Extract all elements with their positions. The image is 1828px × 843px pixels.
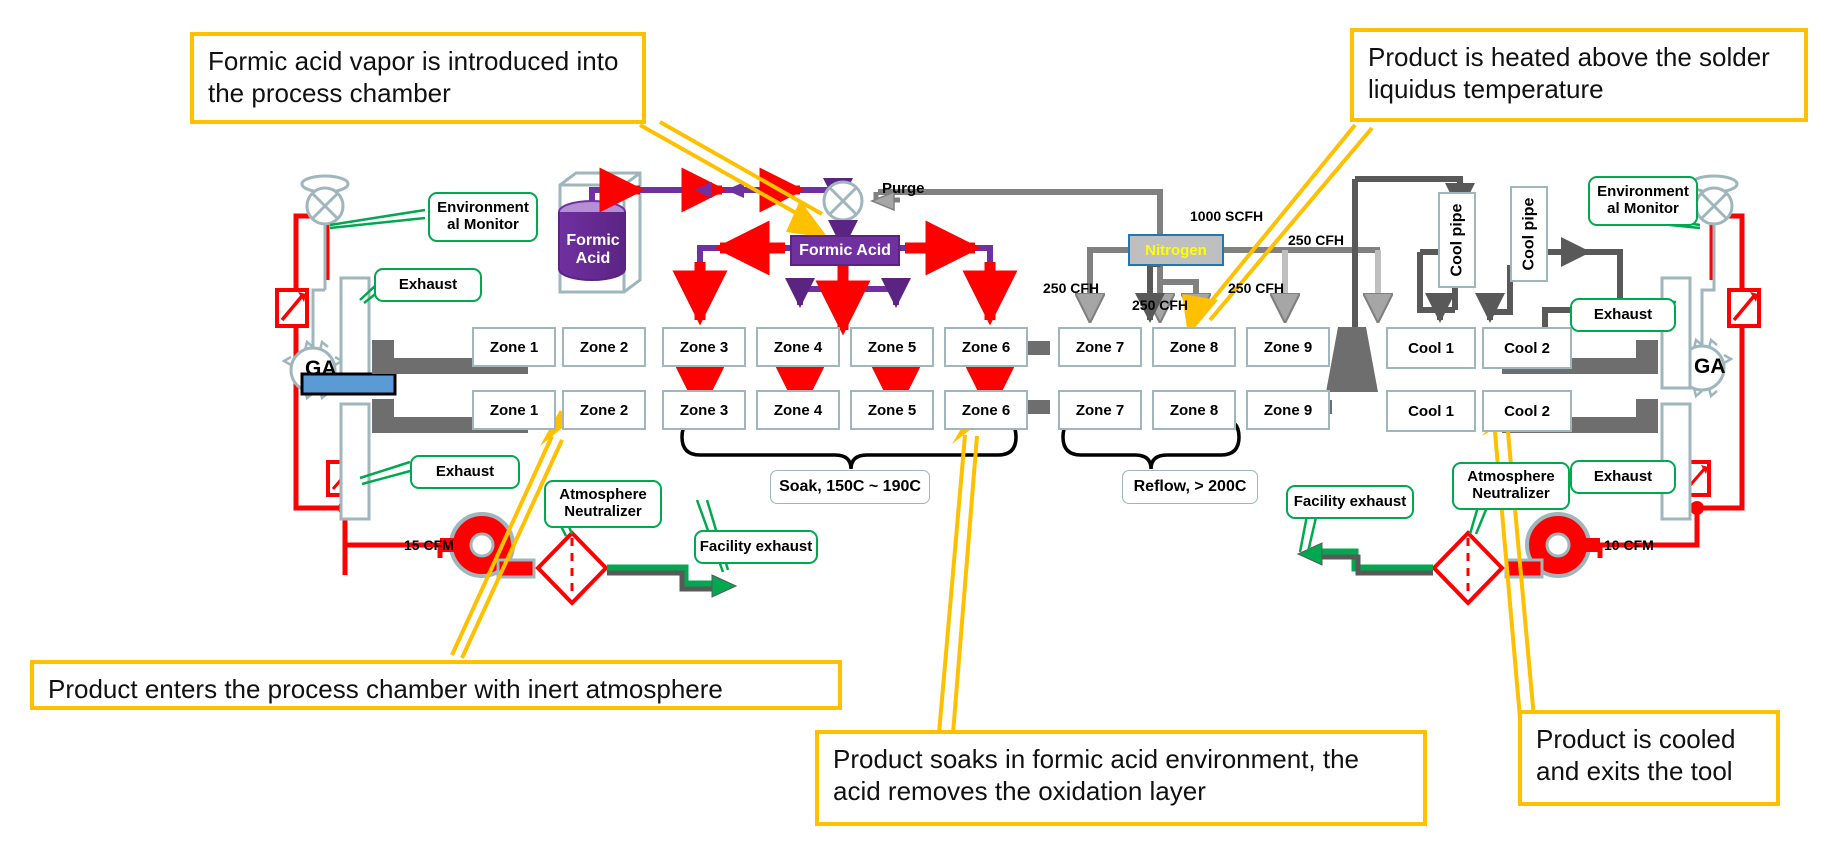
zone-top-5[interactable]: Zone 5 (850, 327, 934, 367)
callout-enters: Product enters the process chamber with … (30, 660, 842, 710)
callout-cooled: Product is cooled and exits the tool (1518, 710, 1780, 806)
zone-bottom-9[interactable]: Zone 9 (1246, 390, 1330, 430)
label-facility-exhaust-left: Facility exhaust (694, 530, 818, 564)
cool-top-1[interactable]: Cool 1 (1386, 327, 1476, 369)
right-facility-exhaust-pipe (1298, 543, 1433, 573)
zone-top-8[interactable]: Zone 8 (1152, 327, 1236, 367)
callout-formic-intro: Formic acid vapor is introduced into the… (190, 32, 646, 124)
tank-label-line2: Acid (560, 250, 626, 268)
transition-trapezoid (1326, 327, 1378, 392)
left-atmosphere-neutralizer (538, 533, 606, 603)
flow-blower-left: 15 CFM (404, 537, 454, 553)
purge-label: Purge (882, 180, 925, 197)
right-atmosphere-neutralizer (1434, 533, 1502, 603)
left-blower (440, 514, 534, 577)
cool-pipe-2: Cool pipe (1510, 186, 1548, 282)
zone-bottom-2[interactable]: Zone 2 (562, 390, 646, 430)
flow-zone7: 250 CFH (1043, 280, 1099, 296)
flow-n2-main: 1000 SCFH (1190, 208, 1263, 224)
zone-bottom-1[interactable]: Zone 1 (472, 390, 556, 430)
cool-pipe-1: Cool pipe (1438, 192, 1476, 288)
flow-blower-right: 10 CFM (1604, 537, 1654, 553)
zone-bottom-4[interactable]: Zone 4 (756, 390, 840, 430)
left-ga-label: GA (305, 357, 337, 381)
zone-top-6[interactable]: Zone 6 (944, 327, 1028, 367)
callout-soaks: Product soaks in formic acid environment… (815, 730, 1427, 826)
left-exhaust-stack-bottom (341, 404, 369, 519)
label-env-monitor-right: Environment al Monitor (1588, 176, 1698, 226)
label-exhaust-top-left: Exhaust (374, 268, 482, 302)
zone-top-9[interactable]: Zone 9 (1246, 327, 1330, 367)
zone-bottom-5[interactable]: Zone 5 (850, 390, 934, 430)
label-exhaust-bottom-right: Exhaust (1570, 460, 1676, 494)
zone-top-4[interactable]: Zone 4 (756, 327, 840, 367)
diagram-canvas: Formic acid vapor is introduced into the… (0, 0, 1828, 843)
cool-pipe-2-label: Cool pipe (1520, 198, 1538, 271)
label-exhaust-top-right: Exhaust (1570, 298, 1676, 332)
right-ga-label: GA (1694, 355, 1726, 379)
label-neutralizer-right: Atmosphere Neutralizer (1452, 462, 1570, 510)
zone-top-3[interactable]: Zone 3 (662, 327, 746, 367)
zone-bottom-3[interactable]: Zone 3 (662, 390, 746, 430)
zone-top-1[interactable]: Zone 1 (472, 327, 556, 367)
cool-top-2[interactable]: Cool 2 (1482, 327, 1572, 369)
tank-label-line1: Formic (560, 232, 626, 250)
formic-acid-manifold: Formic Acid (790, 235, 900, 266)
cool-bottom-1[interactable]: Cool 1 (1386, 390, 1476, 432)
reverse-arrow-1 (694, 182, 712, 198)
zone-bottom-8[interactable]: Zone 8 (1152, 390, 1236, 430)
flow-zone9: 250 CFH (1228, 280, 1284, 296)
mixing-valve-icon (824, 182, 862, 220)
flow-cool: 250 CFH (1288, 232, 1344, 248)
zone-top-2[interactable]: Zone 2 (562, 327, 646, 367)
label-neutralizer-left: Atmosphere Neutralizer (544, 480, 662, 528)
zone-bottom-6[interactable]: Zone 6 (944, 390, 1028, 430)
label-soak: Soak, 150C ~ 190C (770, 470, 930, 504)
callout-heated: Product is heated above the solder liqui… (1350, 28, 1808, 122)
flow-zone8: 250 CFH (1132, 297, 1188, 313)
cool-pipe-1-label: Cool pipe (1448, 204, 1466, 277)
cool-bottom-2[interactable]: Cool 2 (1482, 390, 1572, 432)
zone-bottom-7[interactable]: Zone 7 (1058, 390, 1142, 430)
formic-acid-tank-label: Formic Acid (560, 232, 626, 267)
label-reflow: Reflow, > 200C (1122, 470, 1258, 504)
label-facility-exhaust-right: Facility exhaust (1286, 485, 1414, 519)
label-exhaust-bottom-left: Exhaust (410, 455, 520, 489)
label-env-monitor-left: Environment al Monitor (428, 192, 538, 242)
left-facility-exhaust-pipe (607, 568, 736, 597)
right-junction-dot (1690, 501, 1704, 515)
nitrogen-source-box: Nitrogen (1128, 234, 1224, 266)
right-exhaust-stack-top (1662, 278, 1690, 388)
zone-top-7[interactable]: Zone 7 (1058, 327, 1142, 367)
